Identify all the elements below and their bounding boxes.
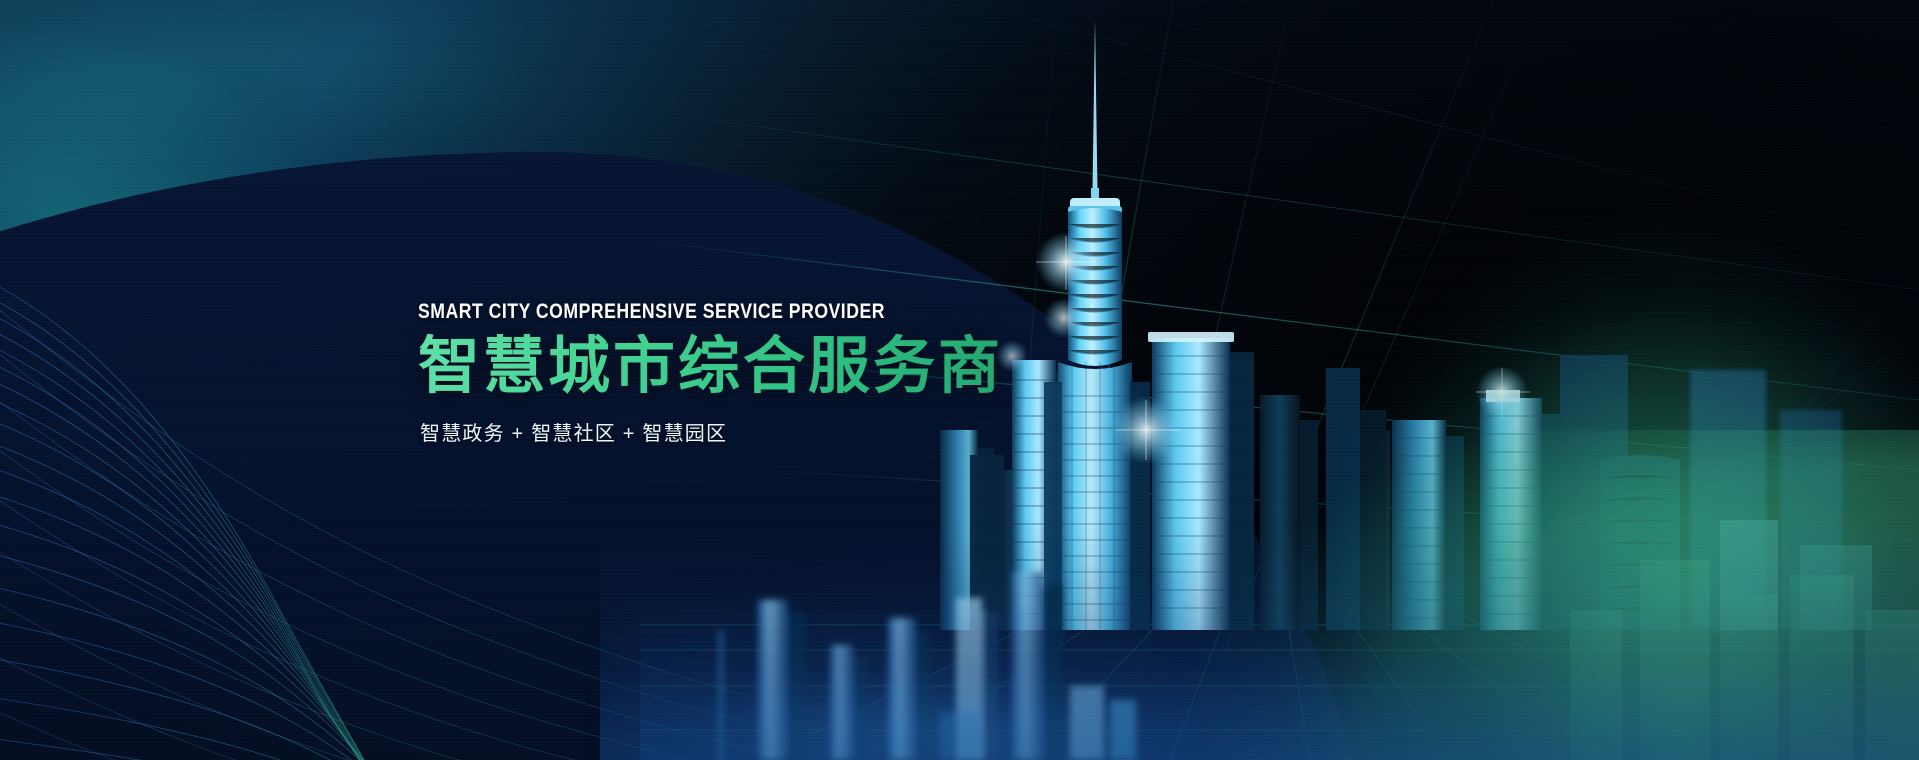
banner-eyebrow-text: SMART CITY COMPREHENSIVE SERVICE PROVIDE…	[418, 300, 1056, 324]
headline-copy-block: SMART CITY COMPREHENSIVE SERVICE PROVIDE…	[418, 300, 1178, 446]
floor-haze	[620, 560, 1380, 760]
banner-subline: 智慧政务 + 智慧社区 + 智慧园区	[420, 417, 1178, 446]
banner-headline: 智慧城市综合服务商	[418, 334, 1178, 401]
hero-banner: SMART CITY COMPREHENSIVE SERVICE PROVIDE…	[0, 0, 1919, 760]
